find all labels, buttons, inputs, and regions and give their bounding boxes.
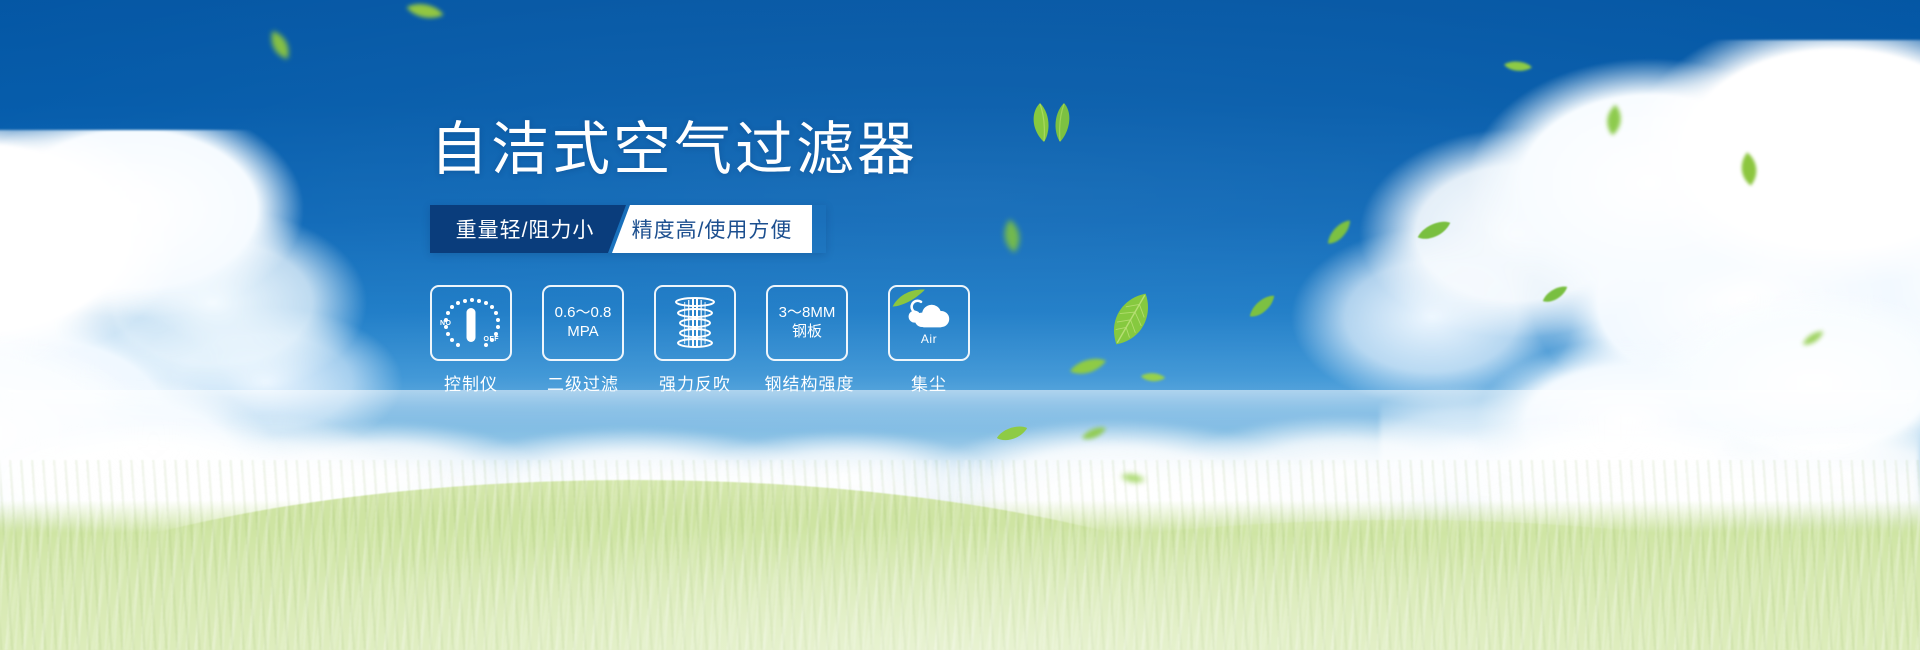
dial-gauge-icon: NO OFF: [441, 296, 501, 350]
pressure-text-icon: 0.6〜0.8 MPA: [555, 304, 612, 342]
feature-caption: 二级过滤: [542, 370, 624, 395]
feature-box: 3〜8MM 钢板: [766, 285, 848, 361]
tag-primary: 重量轻/阻力小: [430, 205, 626, 253]
grass-field: [0, 390, 1920, 650]
floating-leaf-icon: [1601, 102, 1626, 138]
feature-caption: 集尘: [888, 370, 970, 395]
feature-item-controller[interactable]: NO OFF 控制仪: [430, 285, 512, 395]
feature-item-dust[interactable]: Air 集尘: [888, 285, 970, 395]
feature-box: NO OFF: [430, 285, 512, 361]
feature-box: [654, 285, 736, 361]
floating-leaf-icon: [1735, 149, 1763, 189]
feature-box: Air: [888, 285, 970, 361]
air-label: Air: [921, 332, 937, 346]
feature-item-backblow[interactable]: 强力反吹: [654, 285, 736, 395]
feature-caption: 强力反吹: [654, 370, 736, 395]
cloud-air-icon: Air: [894, 294, 964, 352]
feature-item-steel[interactable]: 3〜8MM 钢板 钢结构强度: [766, 285, 858, 395]
feature-box: 0.6〜0.8 MPA: [542, 285, 624, 361]
banner-hero: 自洁式空气过滤器 重量轻/阻力小 精度高/使用方便: [0, 0, 1920, 650]
feature-list: NO OFF 控制仪 0.6〜0.8 MPA 二级过滤: [430, 285, 1110, 395]
steel-material: 钢板: [779, 323, 836, 342]
pressure-range: 0.6〜0.8: [555, 304, 612, 321]
feature-caption: 控制仪: [430, 370, 512, 395]
dial-needle-icon: [467, 308, 476, 342]
page-title-text: 自洁式空气过滤器: [430, 117, 918, 182]
title-sprout-leaves-icon: [1020, 92, 1082, 134]
pressure-unit: MPA: [555, 323, 612, 342]
horizon-haze: [0, 390, 1920, 436]
feature-item-pressure[interactable]: 0.6〜0.8 MPA 二级过滤: [542, 285, 624, 395]
filter-coil-icon: [671, 295, 719, 351]
tag-secondary: 精度高/使用方便: [612, 205, 812, 253]
tagline-banner: 重量轻/阻力小 精度高/使用方便: [430, 205, 826, 253]
feature-caption: 钢结构强度: [761, 370, 858, 395]
dial-label-on: NO: [440, 320, 452, 327]
steel-plate-text-icon: 3〜8MM 钢板: [779, 304, 836, 342]
dial-label-off: OFF: [484, 336, 500, 343]
page-title: 自洁式空气过滤器: [430, 118, 1110, 183]
grass-highlight: [0, 450, 1920, 650]
banner-content: 自洁式空气过滤器 重量轻/阻力小 精度高/使用方便: [430, 118, 1110, 395]
steel-thickness: 3〜8MM: [779, 304, 836, 321]
floating-leaf-icon: [1139, 369, 1166, 386]
